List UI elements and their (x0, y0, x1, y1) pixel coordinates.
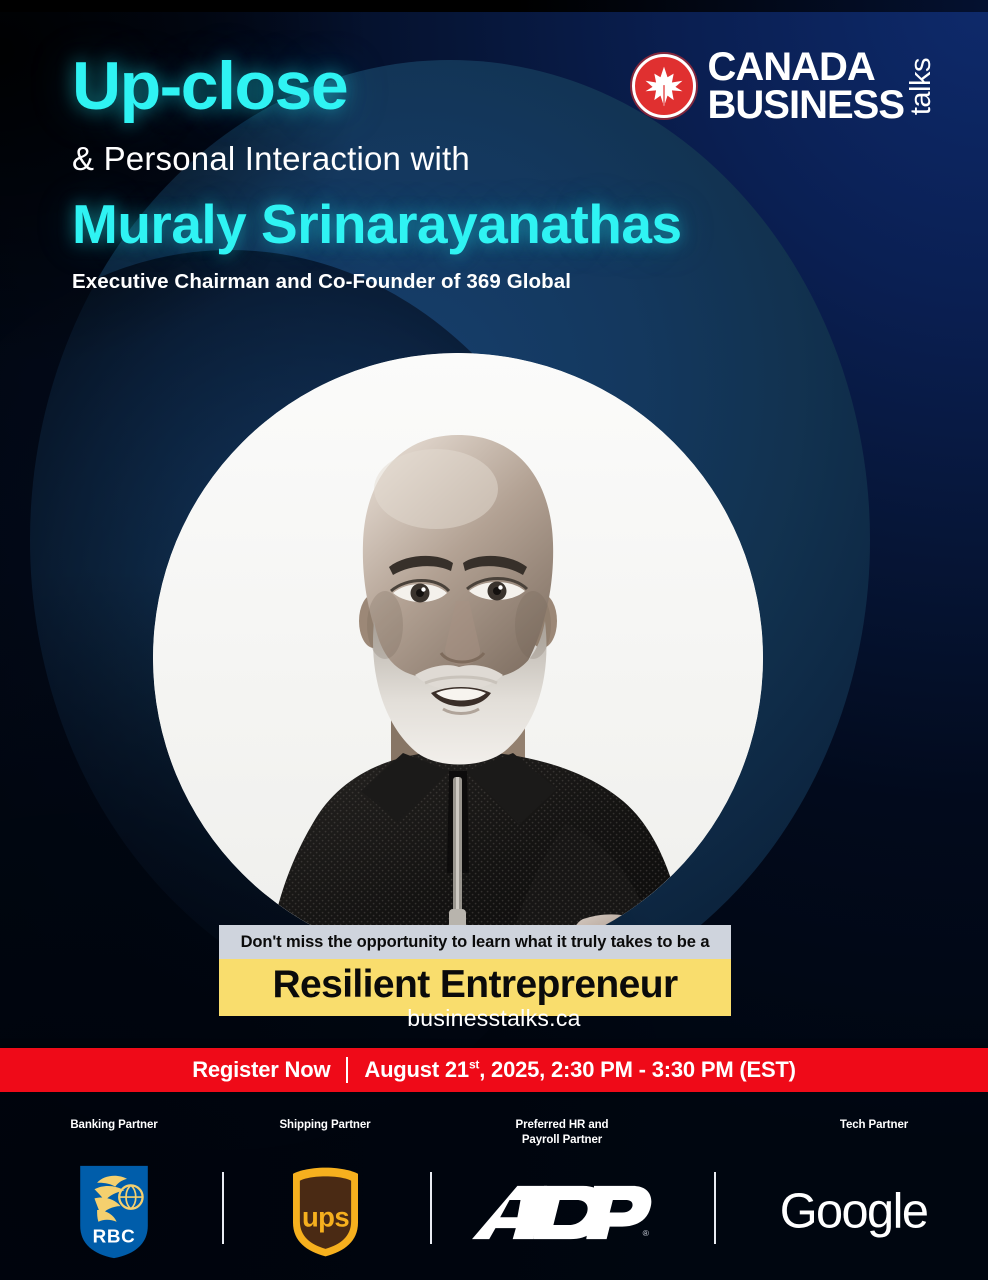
callout-top-line: Don't miss the opportunity to learn what… (219, 925, 731, 959)
svg-text:®: ® (643, 1227, 650, 1237)
partner-divider-2 (430, 1172, 432, 1244)
brand-talks-vertical: talks (907, 58, 936, 115)
register-now-label[interactable]: Register Now (192, 1057, 330, 1083)
partner-label-shipping: Shipping Partner (279, 1118, 370, 1150)
rbc-logo[interactable]: RBC (75, 1166, 153, 1258)
ups-logo[interactable]: ups (288, 1166, 363, 1258)
partner-divider-3 (714, 1172, 716, 1244)
speaker-role: Executive Chairman and Co-Founder of 369… (72, 270, 682, 294)
partners-section: Banking Partner RBC (0, 1092, 988, 1280)
partner-shipping: Shipping Partner ups (254, 1118, 396, 1258)
callout-banner: Don't miss the opportunity to learn what… (219, 925, 731, 1016)
adp-logo[interactable]: ® (472, 1166, 652, 1258)
headline: Up-close (72, 52, 682, 120)
maple-leaf-icon (632, 54, 696, 118)
partner-row: Banking Partner RBC (0, 1118, 988, 1258)
partner-label-hr-payroll-line2: Payroll Partner (516, 1133, 609, 1148)
event-date-prefix: August 21 (364, 1057, 469, 1082)
register-bar[interactable]: Register Now August 21st, 2025, 2:30 PM … (0, 1048, 988, 1092)
svg-text:Google: Google (780, 1185, 928, 1238)
brand-wordmark: CANADA BUSINESS talks (708, 48, 937, 125)
speaker-portrait (153, 353, 763, 963)
top-black-bar (0, 0, 988, 12)
svg-text:ups: ups (301, 1201, 348, 1232)
register-divider (346, 1057, 348, 1083)
brand-line-canada: CANADA (708, 48, 905, 86)
event-poster: Up-close & Personal Interaction with Mur… (0, 0, 988, 1280)
event-date-ordinal: st (469, 1058, 479, 1072)
title-block: Up-close & Personal Interaction with Mur… (72, 52, 682, 294)
event-datetime: August 21st, 2025, 2:30 PM - 3:30 PM (ES… (364, 1057, 795, 1083)
brand-logo[interactable]: CANADA BUSINESS talks (632, 48, 937, 125)
subheadline: & Personal Interaction with (72, 142, 682, 175)
partner-label-tech: Tech Partner (840, 1118, 908, 1150)
brand-line-business: BUSINESS (708, 86, 905, 124)
partner-banking: Banking Partner RBC (34, 1118, 194, 1258)
website-url[interactable]: businesstalks.ca (0, 1005, 988, 1032)
partner-label-hr-payroll-line1: Preferred HR and (516, 1118, 609, 1133)
google-logo[interactable]: Google (779, 1166, 969, 1258)
partner-label-banking: Banking Partner (70, 1118, 157, 1150)
partner-label-hr-payroll: Preferred HR and Payroll Partner (516, 1118, 609, 1150)
speaker-name: Muraly Srinarayanathas (72, 197, 682, 252)
partner-tech: Tech Partner Google (764, 1118, 984, 1258)
event-date-suffix: , 2025, 2:30 PM - 3:30 PM (EST) (479, 1057, 796, 1082)
partner-divider-1 (222, 1172, 224, 1244)
partner-hr-payroll: Preferred HR and Payroll Partner (462, 1118, 662, 1258)
svg-text:RBC: RBC (93, 1226, 136, 1247)
